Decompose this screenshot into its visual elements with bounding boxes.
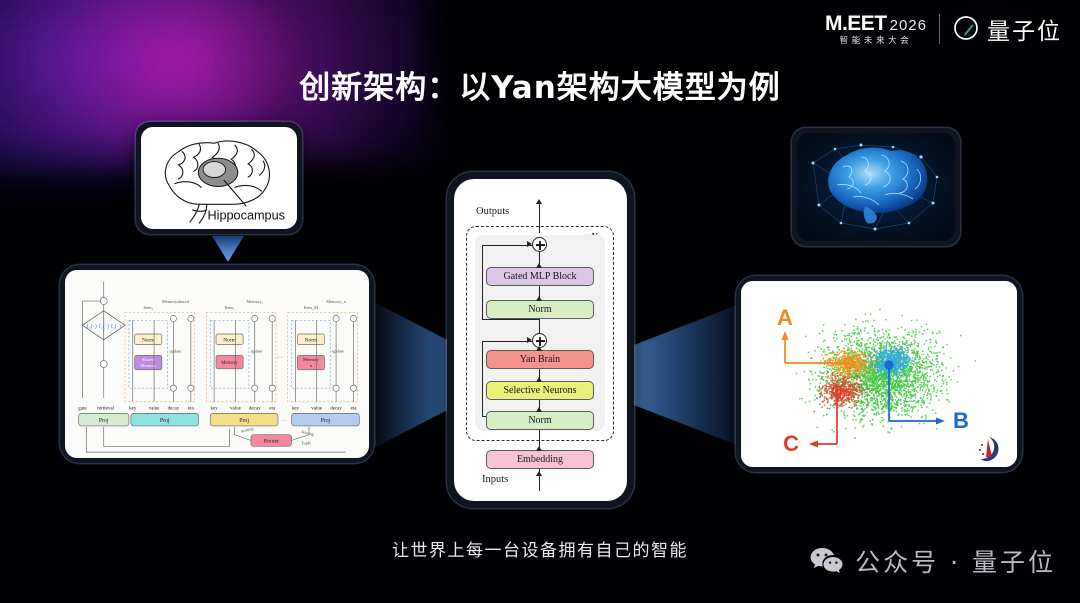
svg-text:Item₁: Item₁ — [143, 305, 153, 310]
arrow-into-embedding — [536, 446, 542, 451]
svg-text:update: update — [170, 348, 182, 353]
block-embedding: Embedding — [486, 450, 594, 469]
annotation-c-label: C — [783, 431, 799, 456]
meet-wordmark: M.EET — [825, 13, 887, 34]
svg-text:Proj: Proj — [239, 418, 249, 424]
meet-year: 2026 — [890, 18, 927, 33]
outputs-label: Outputs — [476, 206, 509, 217]
residual-skip-top-vert — [482, 245, 483, 320]
svg-text:Item_M: Item_M — [304, 305, 318, 310]
svg-text:value: value — [311, 407, 323, 412]
svg-text:key: key — [292, 407, 300, 412]
block-norm-upper-label: Norm — [528, 304, 551, 315]
block-norm-lower-label: Norm — [528, 415, 551, 426]
memory-architecture-panel-inner: f₁(·) f₂(·) f₃(·) Norm Shared Memory Ite… — [65, 270, 369, 458]
page-title: 创新架构：以Yan架构大模型为例 — [0, 62, 1080, 107]
svg-text:eta: eta — [188, 407, 195, 412]
svg-text:Scoring: Scoring — [301, 429, 314, 437]
scatter-panel: A B C — [736, 276, 1022, 472]
svg-text:decay: decay — [249, 407, 261, 412]
residual-skip-top — [482, 245, 532, 246]
label-gate: gate — [78, 407, 87, 412]
block-gated-mlp-label: Gated MLP Block — [504, 271, 577, 282]
block-embedding-label: Embedding — [517, 454, 563, 465]
svg-text:Shared: Shared — [142, 358, 156, 363]
arrow-into-norm-lower — [536, 407, 542, 412]
svg-text:Memory: Memory — [303, 358, 320, 363]
residual-skip-mid-vert — [482, 341, 483, 417]
hippocampus-label: Hippocampus — [208, 208, 285, 222]
svg-text:key: key — [129, 407, 137, 412]
svg-text:decay: decay — [330, 407, 342, 412]
yan-architecture-panel: Outputs ×N Gated MLP Block — [447, 172, 634, 508]
brand-bar: M.EET 2026 智能未来大会 量子位 — [825, 8, 1062, 50]
brand-divider — [939, 14, 940, 44]
arrow-into-yan-brain — [536, 346, 542, 351]
svg-text:decay: decay — [168, 407, 180, 412]
residual-skip-mid — [482, 341, 532, 342]
residual-arrow-top — [527, 241, 532, 247]
scatter-panel-inner: A B C — [741, 281, 1017, 467]
inputs-label: Inputs — [482, 474, 508, 485]
block-norm-lower: Norm — [486, 411, 594, 430]
svg-text:Norm: Norm — [142, 338, 155, 344]
watermark-text: 公众号 · 量子位 — [855, 543, 1056, 579]
annotation-b-label: B — [953, 408, 969, 433]
qbit-logo: 量子位 — [952, 12, 1062, 46]
cluster-scatter-plot: A B C — [741, 281, 1017, 467]
blue-brain-panel-inner — [797, 133, 955, 241]
meet-2026-logo: M.EET 2026 智能未来大会 — [825, 13, 927, 46]
blue-neural-brain-image — [797, 133, 955, 241]
annotation-a-label: A — [777, 305, 793, 330]
wechat-icon — [810, 546, 844, 576]
residual-add-top — [532, 237, 547, 252]
svg-text:Memory_n: Memory_n — [326, 299, 347, 304]
outputs-arrowhead — [536, 199, 542, 204]
block-selective-neurons: Selective Neurons — [486, 381, 594, 400]
wechat-watermark: 公众号 · 量子位 — [810, 543, 1056, 579]
svg-text:Memory₁: Memory₁ — [246, 299, 263, 304]
svg-text:update: update — [332, 348, 344, 353]
memory-group-1: Norm Shared Memory Item₁ Memoryshared up… — [125, 299, 195, 402]
residual-skip-top-join — [482, 319, 539, 320]
arrow-down-icon — [208, 232, 248, 266]
block-yan-brain: Yan Brain — [486, 350, 594, 369]
hippocampus-panel-inner: Hippocampus Hippocampus — [141, 127, 297, 229]
annotation-b-node — [884, 360, 893, 369]
arrow-into-norm-upper — [536, 296, 542, 301]
memory-group-n: Norm Memory n Item_M Memory_n update — [288, 299, 358, 402]
arrow-inputs — [536, 471, 542, 476]
svg-text:Proj: Proj — [160, 418, 170, 424]
qbit-wordmark: 量子位 — [987, 12, 1062, 46]
svg-text:···: ··· — [277, 355, 283, 361]
meet-subtitle: 智能未来大会 — [840, 37, 913, 46]
block-selective-neurons-label: Selective Neurons — [503, 385, 576, 396]
block-yan-brain-label: Yan Brain — [520, 354, 560, 365]
slide-canvas: M.EET 2026 智能未来大会 量子位 创新架构：以Yan架构大模型为例 — [0, 0, 1080, 603]
svg-text:Item₁: Item₁ — [225, 305, 235, 310]
hippocampus-panel: Hippocampus Hippocampus — [136, 122, 302, 234]
svg-text:update: update — [251, 348, 263, 353]
label-retrieval: retrieval — [97, 407, 114, 412]
blue-brain-panel — [792, 128, 960, 246]
memory-group-2: Norm Memory Item₁ Memory₁ update — [206, 299, 276, 402]
svg-text:Proj: Proj — [321, 418, 331, 424]
memory-architecture-panel: f₁(·) f₂(·) f₃(·) Norm Shared Memory Ite… — [60, 265, 374, 463]
formula-label: f₁(·) f₂(·) f₃(·) — [86, 323, 121, 330]
svg-text:TopK: TopK — [301, 440, 312, 445]
block-gated-mlp: Gated MLP Block — [486, 267, 594, 286]
svg-text:Router: Router — [264, 438, 279, 444]
memory-architecture-diagram: f₁(·) f₂(·) f₃(·) Norm Shared Memory Ite… — [65, 270, 369, 458]
svg-text:Proj: Proj — [99, 418, 109, 424]
hippocampus-brain-illustration: Hippocampus — [141, 127, 297, 229]
svg-text:Memory: Memory — [140, 364, 157, 369]
svg-text:key: key — [210, 407, 218, 412]
svg-text:value: value — [149, 407, 161, 412]
svg-text:eta: eta — [351, 407, 358, 412]
svg-text:···: ··· — [281, 418, 287, 424]
svg-text:eta: eta — [269, 407, 276, 412]
svg-text:value: value — [230, 407, 242, 412]
yan-architecture-diagram: Outputs ×N Gated MLP Block — [454, 179, 627, 501]
q-circle-icon — [952, 14, 982, 44]
svg-text:Norm: Norm — [223, 338, 236, 344]
arrow-into-selective — [536, 377, 542, 382]
svg-text:Memory: Memory — [221, 361, 238, 366]
yan-architecture-panel-inner: Outputs ×N Gated MLP Block — [454, 179, 627, 501]
svg-text:Norm: Norm — [305, 338, 318, 344]
block-norm-upper: Norm — [486, 300, 594, 319]
arrow-into-mlp — [536, 263, 542, 268]
svg-text:Scoring: Scoring — [240, 426, 253, 434]
residual-arrow-mid — [527, 337, 532, 343]
svg-text:Memoryshared: Memoryshared — [162, 299, 190, 304]
